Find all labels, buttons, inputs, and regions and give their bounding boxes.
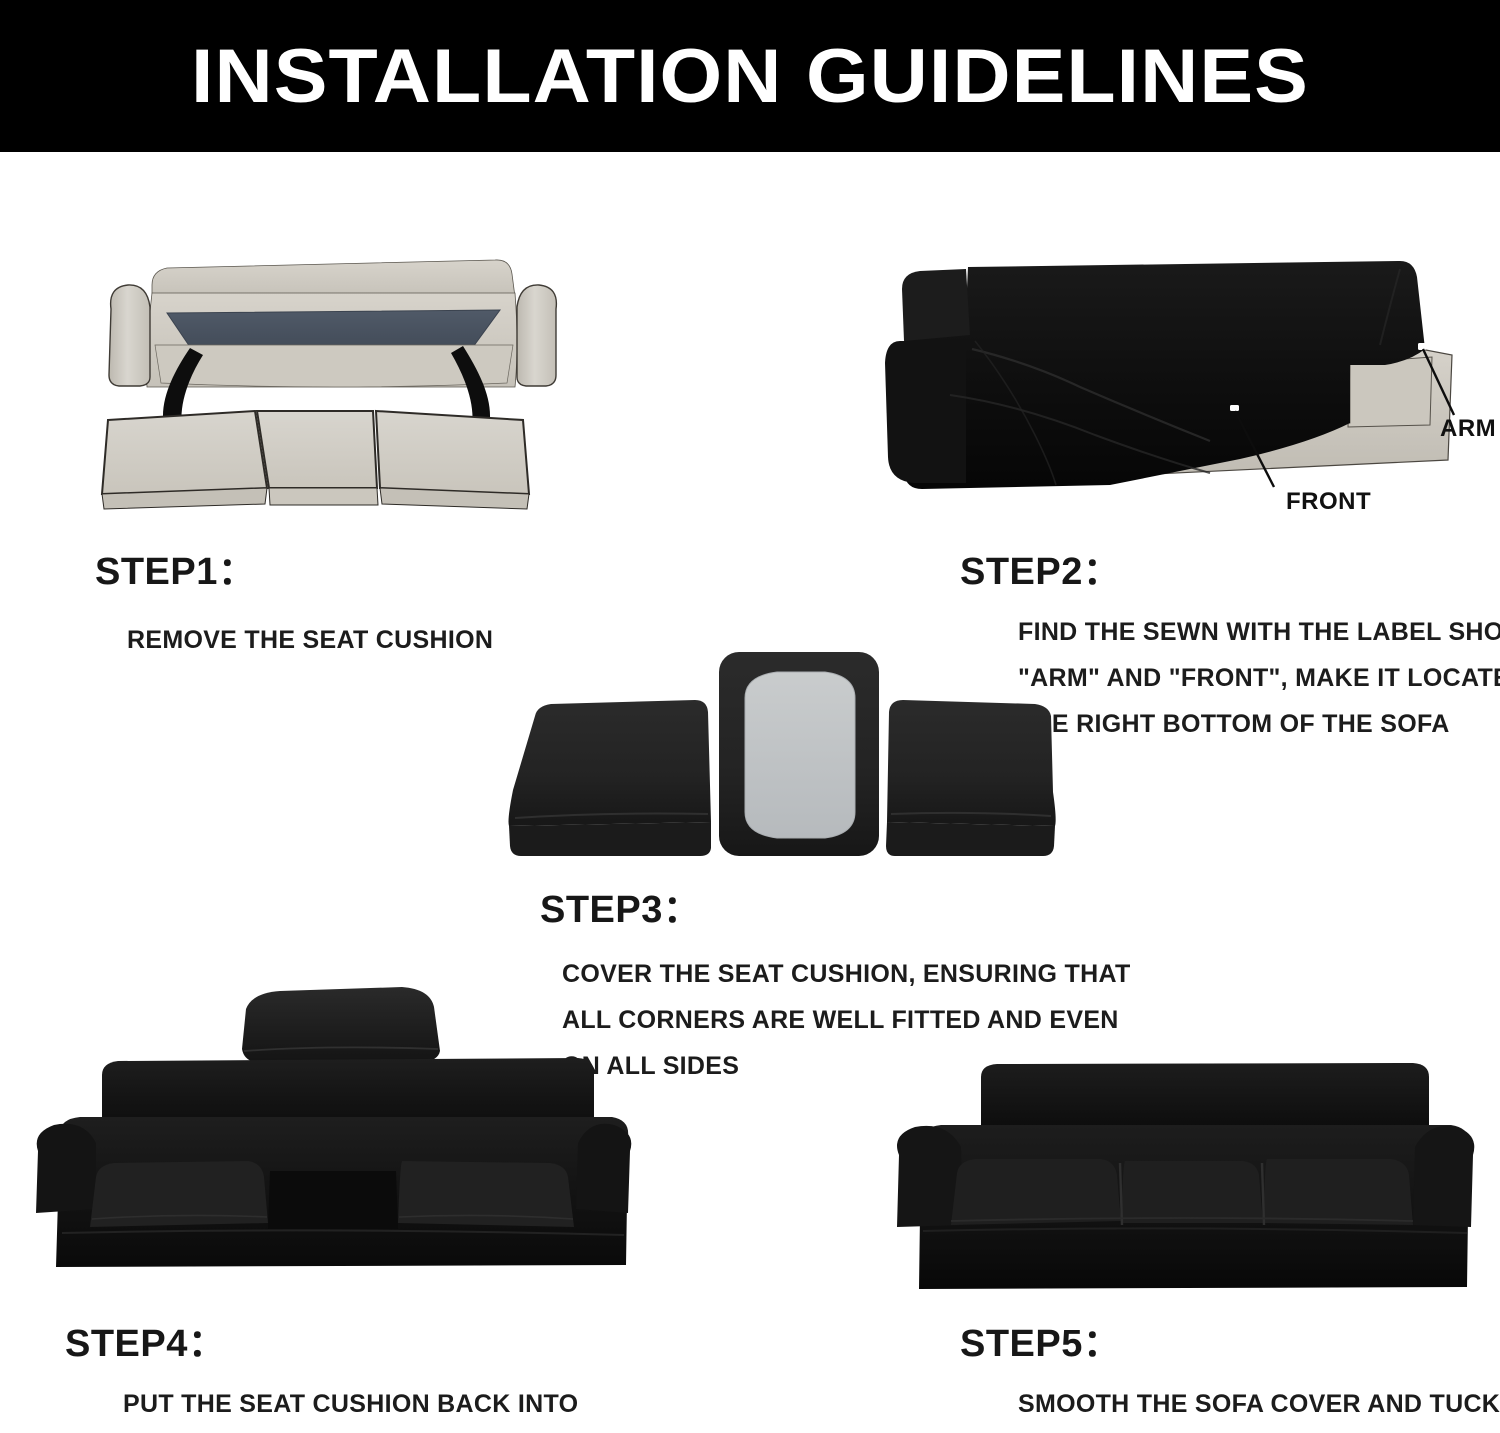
step2-body-line-2: "ARM" AND "FRONT", MAKE IT LOCATE IN [1018,655,1490,701]
installation-guidelines-page: INSTALLATION GUIDELINES [0,0,1500,1433]
tag-marker-front [1230,405,1239,411]
tag-marker-arm [1418,343,1426,350]
step4-text-block: STEP4： PUT THE SEAT CUSHION BACK INTO SO… [65,1312,625,1433]
step5-figure-finished-black-sofa [885,1035,1480,1300]
callout-label-arm: ARM [1440,415,1496,443]
step2-body: FIND THE SEWN WITH THE LABEL SHOWS "ARM"… [1018,609,1490,747]
step2-figure-cover-draped-on-sofa: ARM FRONT [880,245,1480,525]
sofa-arm-right [517,285,556,386]
step4-heading: STEP4： [65,1312,625,1367]
removed-cushion-left [102,411,267,509]
step3-body-line-1: COVER THE SEAT CUSHION, ENSURING THAT [562,951,1100,997]
exposed-sofa-arm-face [1348,357,1432,427]
step2-heading: STEP2： [960,540,1490,595]
floating-seat-cushion [242,987,440,1063]
page-title: INSTALLATION GUIDELINES [0,0,1500,152]
sofa-back-top [152,260,515,297]
step3-heading: STEP3： [540,878,1100,933]
removed-cushion-right [376,411,529,509]
step5-body: SMOOTH THE SOFA COVER AND TUCK THE FABRI… [1018,1381,1500,1433]
step5-heading: STEP5： [960,1312,1500,1367]
step4-body: PUT THE SEAT CUSHION BACK INTO SOFA [123,1381,625,1433]
step2-body-line-1: FIND THE SEWN WITH THE LABEL SHOWS [1018,609,1490,655]
step1-heading: STEP1： [95,540,655,595]
step5-body-line-2: FABRIC INTO GAP [1018,1427,1500,1433]
step5-body-line-1: SMOOTH THE SOFA COVER AND TUCK THE [1018,1381,1500,1427]
step2-body-line-3: THE RIGHT BOTTOM OF THE SOFA [1018,701,1490,747]
step4-body-line-1: PUT THE SEAT CUSHION BACK INTO [123,1381,625,1427]
step1-figure-beige-sofa-with-removed-cushions [95,205,575,525]
sofa-arm-left [109,285,150,386]
cushion-cover-left [509,700,712,856]
step3-figure-three-cushion-covers [495,640,1065,870]
sofa5-cushion-middle [1121,1161,1263,1223]
step4-body-line-2: SOFA [123,1427,625,1433]
sofa5-arm-right [1413,1126,1474,1227]
step4-figure-black-sofa-with-cushion-insert [30,965,630,1285]
sofa5-cushion-left [951,1159,1121,1225]
cushion-cover-right [886,700,1056,856]
grey-cushion-insert [745,672,855,838]
sofa4-empty-cushion-gap [268,1171,398,1229]
cushion-cover-middle-with-insert [719,652,879,856]
cover-arm-left [885,341,966,483]
callout-label-front: FRONT [1286,488,1371,516]
sofa5-cushion-right [1263,1159,1413,1225]
sofa-seat-deck [167,310,500,347]
removed-cushion-middle [257,411,378,505]
sofa4-arm-left [36,1124,96,1213]
cover-back-left-corner [902,269,970,341]
step5-text-block: STEP5： SMOOTH THE SOFA COVER AND TUCK TH… [960,1312,1500,1433]
sofa4-arm-right [576,1124,631,1213]
